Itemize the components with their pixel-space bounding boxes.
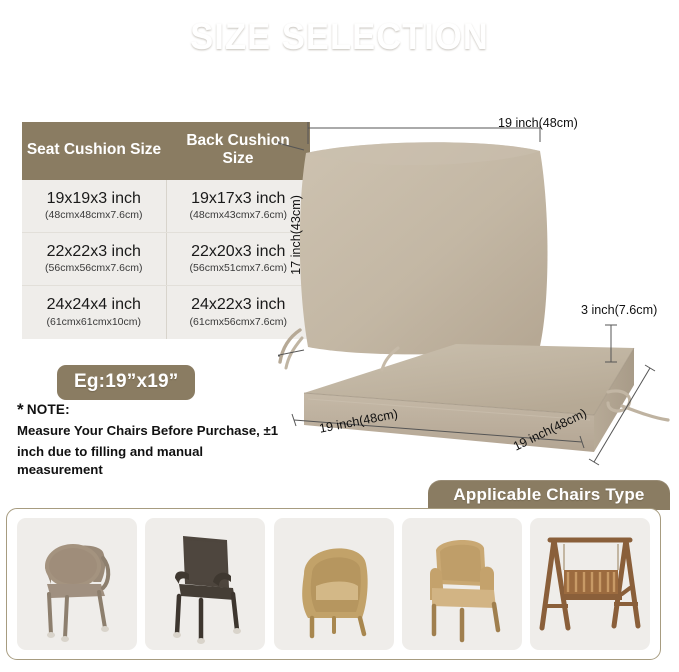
note-line-2: inch due to filling and manual measureme…	[17, 443, 287, 480]
seat-size-cell: 24x24x4 inch (61cmx61cmx10cm)	[22, 286, 166, 339]
table-row: 19x19x3 inch (48cmx48cmx7.6cm) 19x17x3 i…	[22, 180, 310, 233]
seat-size-cm: (48cmx48cmx7.6cm)	[25, 208, 163, 223]
applicable-chairs-label: Applicable Chairs Type	[453, 485, 644, 505]
seat-cushion-tie	[622, 406, 668, 420]
size-table: Seat Cushion Size Back Cushion Size 19x1…	[22, 122, 310, 339]
seat-size-inch: 19x19x3 inch	[25, 189, 163, 208]
seat-size-cell: 19x19x3 inch (48cmx48cmx7.6cm)	[22, 180, 166, 233]
wooden-porch-swing-icon	[534, 522, 646, 646]
table-row: 24x24x4 inch (61cmx61cmx10cm) 24x22x3 in…	[22, 286, 310, 339]
list-item	[274, 518, 394, 650]
list-item	[17, 518, 137, 650]
page-header-banner: SIZE SELECTION	[0, 0, 679, 74]
note-line-1: Measure Your Chairs Before Purchase, ±1	[17, 422, 287, 441]
wicker-armchair-icon	[406, 522, 518, 646]
label-cushion-thickness: 3 inch(7.6cm)	[581, 303, 657, 317]
applicable-chairs-banner: Applicable Chairs Type	[428, 480, 670, 510]
seat-size-cell: 22x22x3 inch (56cmx56cmx7.6cm)	[22, 232, 166, 285]
applicable-chairs-list	[6, 508, 661, 660]
infographic-page: SIZE SELECTION Seat Cushion Size Back Cu…	[0, 0, 679, 672]
seat-size-cm: (61cmx61cmx10cm)	[25, 315, 163, 330]
dark-wicker-high-back-chair-icon	[149, 522, 261, 646]
wicker-tub-chair-icon	[278, 522, 390, 646]
seat-size-inch: 24x24x4 inch	[25, 295, 163, 314]
example-size-badge: Eg:19”x19”	[57, 365, 195, 400]
label-back-cushion-height: 17 inch(43cm)	[289, 195, 303, 275]
list-item	[145, 518, 265, 650]
seat-size-cm: (56cmx56cmx7.6cm)	[25, 261, 163, 276]
table-row: 22x22x3 inch (56cmx56cmx7.6cm) 22x20x3 i…	[22, 232, 310, 285]
list-item	[402, 518, 522, 650]
label-back-cushion-width: 19 inch(48cm)	[498, 116, 578, 130]
note-block: *NOTE: Measure Your Chairs Before Purcha…	[17, 400, 287, 480]
note-heading-label: NOTE:	[27, 402, 70, 417]
table-header-row: Seat Cushion Size Back Cushion Size	[22, 122, 310, 180]
list-item	[530, 518, 650, 650]
back-cushion-shape	[300, 142, 548, 354]
cushion-dimension-diagram: 19 inch(48cm) 17 inch(43cm) 3 inch(7.6cm…	[278, 100, 679, 482]
seat-size-inch: 22x22x3 inch	[25, 242, 163, 261]
column-header-seat-cushion: Seat Cushion Size	[22, 122, 166, 180]
note-heading: *NOTE:	[17, 400, 287, 420]
round-back-wicker-chair-icon	[21, 522, 133, 646]
asterisk-icon: *	[17, 400, 24, 419]
page-title: SIZE SELECTION	[190, 16, 489, 58]
